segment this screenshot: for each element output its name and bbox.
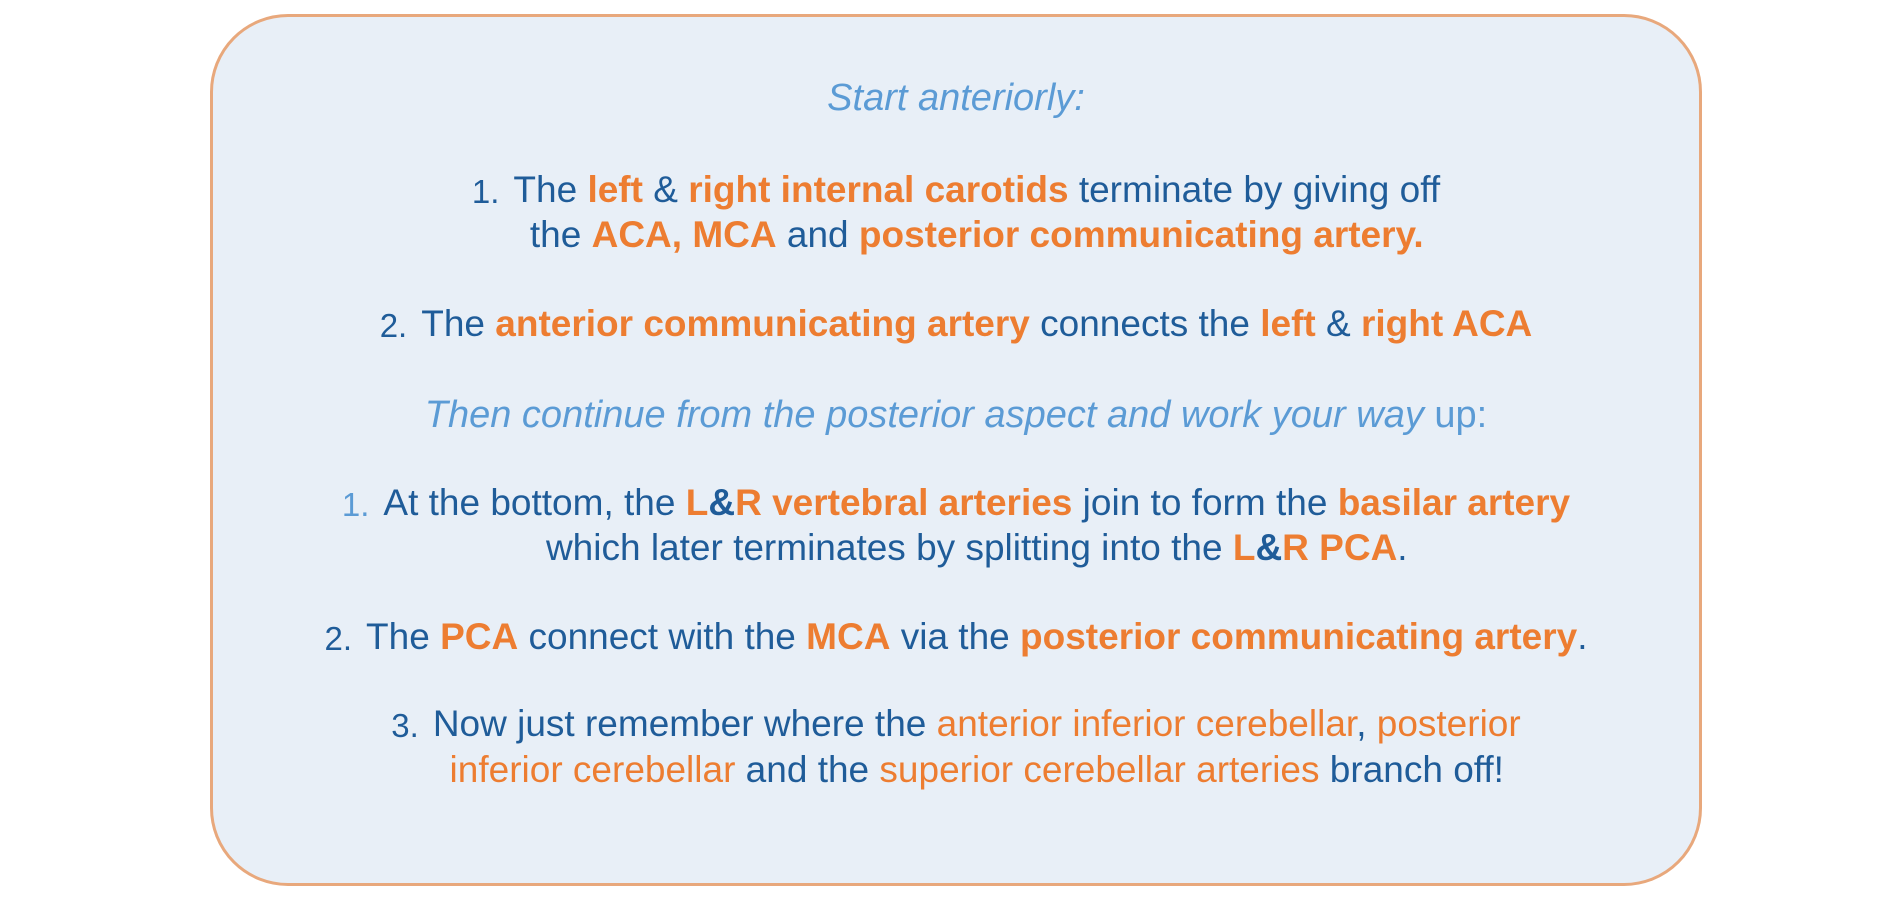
heading-posterior-aspect: Then continue from the posterior aspect … [425, 394, 1487, 438]
text-segment: terminate by giving off [1069, 169, 1441, 210]
term-mca: MCA [806, 616, 890, 657]
term-right-internal-carotids: right internal carotids [688, 169, 1068, 210]
mnemonic-callout-card: Start anteriorly: 1. The left & right in… [210, 14, 1702, 886]
text-segment-ampersand: & [708, 482, 735, 523]
heading-start-anteriorly-text: Start anteriorly: [827, 77, 1085, 119]
text-segment: connects the [1030, 303, 1260, 344]
list-marker: 2. [325, 614, 367, 659]
list-item: 2. The anterior communicating artery con… [257, 301, 1655, 346]
page-root: Start anteriorly: 1. The left & right in… [0, 0, 1888, 906]
text-segment: The [513, 169, 587, 210]
list-item: 1. The left & right internal carotids te… [257, 167, 1655, 257]
text-segment: the [530, 214, 592, 255]
term-posterior-communicating-artery: posterior communicating artery [1020, 616, 1577, 657]
posterior-steps-list: 1. At the bottom, the L&R vertebral arte… [257, 438, 1655, 792]
list-marker: 1. [472, 167, 514, 212]
term-anterior-inferior-cerebellar: anterior inferior cerebellar [937, 703, 1357, 744]
text-segment: . [1397, 527, 1407, 568]
term-anterior-communicating-artery: anterior communicating artery [495, 303, 1030, 344]
term-mca: MCA [692, 214, 776, 255]
text-segment: connect with the [518, 616, 806, 657]
text-segment: At the bottom, the [383, 482, 685, 523]
text-segment: Now just remember where the [433, 703, 937, 744]
list-marker: 3. [391, 701, 433, 746]
anterior-steps-list: 1. The left & right internal carotids te… [257, 121, 1655, 347]
text-segment: join to form the [1072, 482, 1337, 523]
list-item: 1. At the bottom, the L&R vertebral arte… [257, 480, 1655, 570]
list-item-text: The PCA connect with the MCA via the pos… [366, 614, 1587, 659]
list-item-text: The left & right internal carotids termi… [513, 167, 1440, 257]
term-aca: ACA, [592, 214, 682, 255]
list-item-text: Now just remember where the anterior inf… [433, 701, 1521, 791]
text-segment: The [421, 303, 495, 344]
text-segment: . [1577, 616, 1587, 657]
text-segment: branch off! [1320, 749, 1504, 790]
term-basilar-artery: basilar artery [1338, 482, 1570, 523]
text-segment-ampersand: & [1255, 527, 1282, 568]
term-right-aca: right ACA [1361, 303, 1532, 344]
heading-posterior-aspect-tail: up: [1424, 394, 1487, 436]
heading-posterior-aspect-text: Then continue from the posterior aspect … [425, 394, 1424, 436]
term-pca: PCA [440, 616, 518, 657]
list-marker: 1. [342, 480, 384, 525]
term-left: left [1260, 303, 1316, 344]
term-r-vertebral-arteries: R vertebral arteries [735, 482, 1072, 523]
term-l: L [686, 482, 709, 523]
text-segment: The [366, 616, 440, 657]
list-item-text: At the bottom, the L&R vertebral arterie… [383, 480, 1570, 570]
term-r-pca: R PCA [1282, 527, 1397, 568]
heading-start-anteriorly: Start anteriorly: [827, 77, 1085, 121]
term-l: L [1233, 527, 1256, 568]
list-item-text: The anterior communicating artery connec… [421, 301, 1532, 346]
text-segment: via the [890, 616, 1020, 657]
term-inferior-cerebellar: inferior cerebellar [450, 749, 736, 790]
list-item: 3. Now just remember where the anterior … [257, 701, 1655, 791]
text-segment: and [777, 214, 859, 255]
list-marker: 2. [380, 301, 422, 346]
text-segment: , [1356, 703, 1377, 744]
text-segment: and the [735, 749, 879, 790]
text-segment: which later terminates by splitting into… [546, 527, 1233, 568]
text-segment [682, 214, 692, 255]
term-posterior: posterior [1377, 703, 1521, 744]
term-superior-cerebellar-arteries: superior cerebellar arteries [879, 749, 1319, 790]
text-segment: & [643, 169, 688, 210]
list-item: 2. The PCA connect with the MCA via the … [257, 614, 1655, 659]
text-segment: & [1316, 303, 1361, 344]
term-posterior-communicating-artery: posterior communicating artery. [859, 214, 1424, 255]
term-left: left [587, 169, 643, 210]
